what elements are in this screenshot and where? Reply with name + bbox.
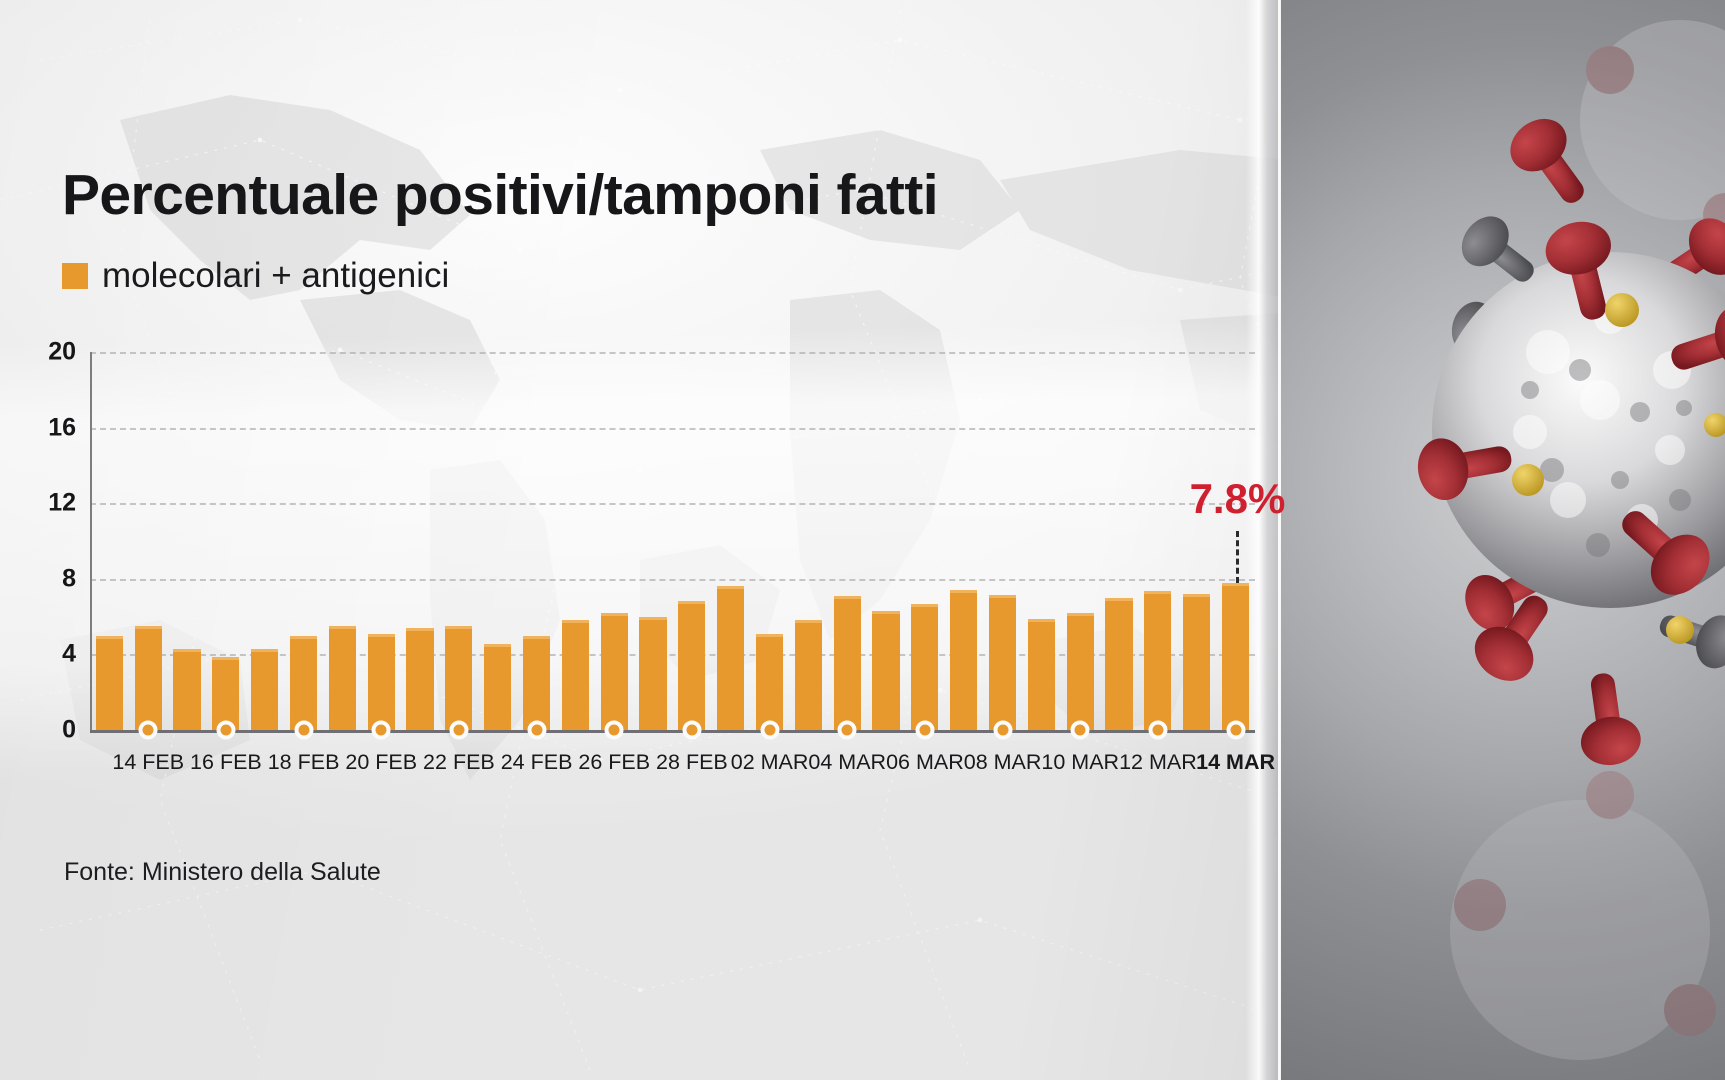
bar (834, 596, 861, 730)
x-tick-dot-18-feb (294, 721, 313, 740)
bar (484, 644, 511, 730)
x-tick-dot-04-mar (838, 721, 857, 740)
x-tick-label-08-mar: 08 MAR (964, 750, 1042, 775)
y-tick-label-12: 12 (48, 489, 76, 518)
x-tick-label-02-mar: 02 MAR (731, 750, 809, 775)
x-tick-dot-10-mar (1071, 721, 1090, 740)
bar (368, 634, 395, 730)
x-tick-label-14-mar: 14 MAR (1196, 750, 1275, 775)
x-tick-label-24-feb: 24 FEB (501, 750, 573, 775)
bar (639, 617, 666, 730)
x-tick-dot-14-feb (139, 721, 158, 740)
chart-legend: molecolari + antigenici (62, 256, 449, 296)
x-tick-dot-24-feb (527, 721, 546, 740)
x-tick-dot-02-mar (760, 721, 779, 740)
bar (678, 601, 705, 730)
x-tick-dot-06-mar (915, 721, 934, 740)
y-tick-label-20: 20 (48, 338, 76, 367)
x-tick-label-16-feb: 16 FEB (190, 750, 262, 775)
bar-chart-plot-area: 048121620 14 FEB16 FEB18 FEB20 FEB22 FEB… (90, 352, 1255, 730)
x-axis-tick-labels: 14 FEB16 FEB18 FEB20 FEB22 FEB24 FEB26 F… (90, 750, 1255, 784)
bar (1222, 583, 1249, 730)
bar (251, 649, 278, 730)
x-tick-label-14-feb: 14 FEB (112, 750, 184, 775)
callout-value-label: 7.8% (1190, 475, 1286, 523)
callout-leader-line (1236, 531, 1239, 583)
bar (406, 628, 433, 730)
x-tick-dot-22-feb (449, 721, 468, 740)
bar (212, 657, 239, 730)
x-tick-label-18-feb: 18 FEB (268, 750, 340, 775)
bar (1067, 613, 1094, 730)
bar (717, 586, 744, 730)
bar (1105, 598, 1132, 730)
x-tick-label-28-feb: 28 FEB (656, 750, 728, 775)
x-tick-label-12-mar: 12 MAR (1119, 750, 1197, 775)
x-tick-label-10-mar: 10 MAR (1041, 750, 1119, 775)
bar (135, 626, 162, 730)
x-tick-dot-28-feb (682, 721, 701, 740)
bar (173, 649, 200, 730)
x-tick-label-26-feb: 26 FEB (578, 750, 650, 775)
bar (1028, 619, 1055, 731)
bar (989, 595, 1016, 730)
bar (1183, 594, 1210, 730)
x-tick-label-22-feb: 22 FEB (423, 750, 495, 775)
bar (872, 611, 899, 730)
x-tick-dot-14-mar (1226, 721, 1245, 740)
bar (795, 620, 822, 730)
legend-label-molecolari-antigenici: molecolari + antigenici (102, 256, 449, 296)
bar (756, 634, 783, 730)
x-tick-label-06-mar: 06 MAR (886, 750, 964, 775)
x-tick-dot-16-feb (216, 721, 235, 740)
source-note: Fonte: Ministero della Salute (64, 858, 381, 887)
bar (601, 613, 628, 730)
bar (950, 590, 977, 730)
bar (562, 620, 589, 730)
x-tick-dot-12-mar (1148, 721, 1167, 740)
x-tick-label-04-mar: 04 MAR (808, 750, 886, 775)
bar (290, 636, 317, 731)
x-tick-dot-08-mar (993, 721, 1012, 740)
bar-series-molecolari-antigenici (90, 352, 1255, 730)
bar (329, 626, 356, 730)
y-tick-label-4: 4 (62, 640, 76, 669)
x-tick-label-20-feb: 20 FEB (345, 750, 417, 775)
bar (523, 636, 550, 731)
y-tick-label-16: 16 (48, 413, 76, 442)
bar (1144, 591, 1171, 730)
x-tick-dot-20-feb (372, 721, 391, 740)
legend-swatch-molecolari-antigenici (62, 263, 88, 289)
page-title: Percentuale positivi/tamponi fatti (62, 166, 938, 226)
bar (911, 604, 938, 730)
y-tick-label-8: 8 (62, 564, 76, 593)
bar (445, 626, 472, 730)
x-tick-dot-26-feb (605, 721, 624, 740)
y-tick-label-0: 0 (62, 716, 76, 745)
bar (96, 636, 123, 731)
